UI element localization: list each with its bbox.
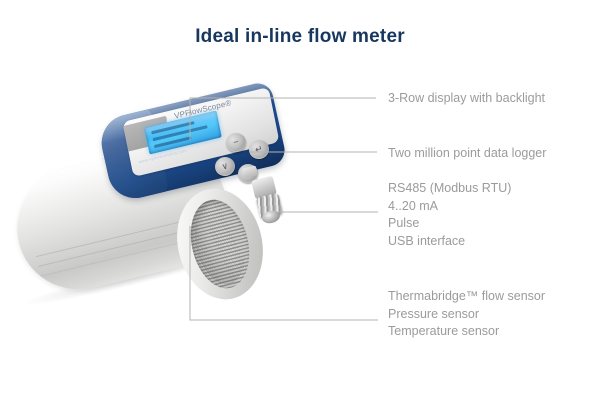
callout-interfaces-line-4: USB interface — [388, 233, 511, 251]
callout-sensors-line-1: Thermabridge™ flow sensor — [388, 288, 545, 306]
callout-interfaces-line-3: Pulse — [388, 215, 511, 233]
product-image: VPFlowScope® www.vpinstruments.com − ↵ ∨… — [0, 95, 300, 345]
page-title: Ideal in-line flow meter — [0, 26, 600, 48]
callout-interfaces-line-1: RS485 (Modbus RTU) — [388, 180, 511, 198]
callout-logger: Two million point data logger — [388, 145, 546, 163]
callout-sensors-line-2: Pressure sensor — [388, 306, 545, 324]
callout-display-line-1: 3-Row display with backlight — [388, 90, 545, 108]
callout-sensors-line-3: Temperature sensor — [388, 323, 545, 341]
callout-logger-line-1: Two million point data logger — [388, 145, 546, 163]
callout-interfaces: RS485 (Modbus RTU) 4..20 mA Pulse USB in… — [388, 180, 511, 250]
enter-icon: ↵ — [254, 144, 263, 155]
slide-canvas: Ideal in-line flow meter VPFlowScope® ww… — [0, 0, 600, 400]
chevron-down-icon: ∨ — [221, 161, 230, 171]
callout-sensors: Thermabridge™ flow sensor Pressure senso… — [388, 288, 545, 341]
minus-icon: − — [232, 138, 239, 148]
callout-interfaces-line-2: 4..20 mA — [388, 198, 511, 216]
callout-display: 3-Row display with backlight — [388, 90, 545, 108]
